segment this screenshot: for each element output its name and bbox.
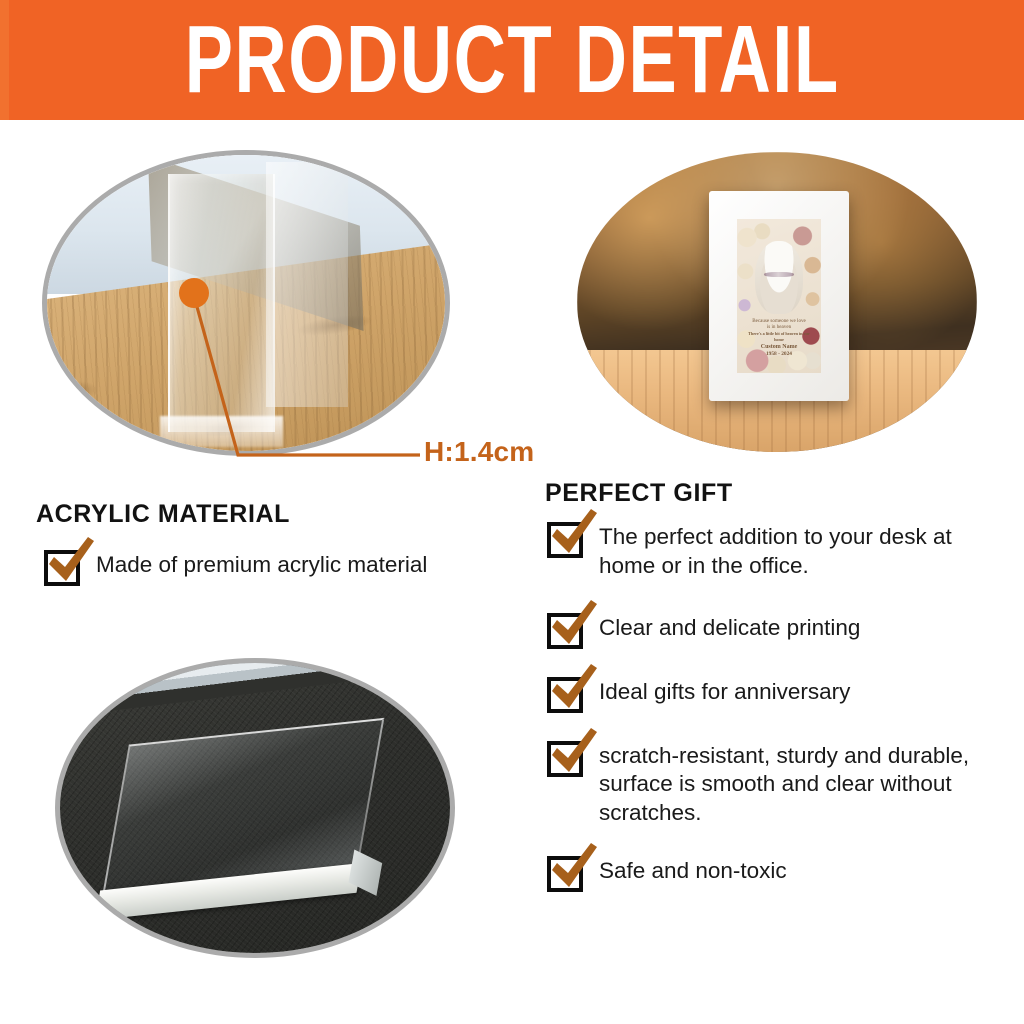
feature-item: Ideal gifts for anniversary [547,675,992,713]
feature-text: Clear and delicate printing [599,611,860,643]
product-photo-gift-scene: Because someone we love is in heaven The… [577,152,977,452]
feature-item: Clear and delicate printing [547,611,992,649]
feature-item: scratch-resistant, sturdy and durable, s… [547,739,992,828]
product-detail-infographic: PRODUCT DETAIL Because someone we l [0,0,1024,1024]
inscription-custom-name: Custom Name [746,343,812,351]
inscription-dates: 1958 - 2024 [746,351,812,358]
checkmark-icon [547,728,599,780]
acrylic-block-edge [168,174,274,431]
perfect-gift-feature-list: The perfect addition to your desk at hom… [547,520,992,914]
product-photo-thickness [42,150,450,456]
feature-item: Made of premium acrylic material [44,548,514,586]
header-banner: PRODUCT DETAIL [0,0,1024,120]
inscription-line-1: Because someone we love [746,318,812,325]
feature-text: Made of premium acrylic material [96,548,427,580]
checkmark-icon [547,843,599,895]
feature-item: Safe and non-toxic [547,854,992,892]
inscription-line-3: There's a little bit of heaven in our ho… [746,331,812,342]
checkmark-icon [44,537,96,589]
wood-grain-knot [45,378,100,407]
page-title: PRODUCT DETAIL [185,11,840,106]
checkbox-icon [547,677,583,713]
portrait-relief-image [755,241,802,315]
section-heading-acrylic-material: ACRYLIC MATERIAL [36,500,290,529]
memorial-photo-frame: Because someone we love is in heaven The… [709,191,849,401]
feature-text: Ideal gifts for anniversary [599,675,850,707]
checkmark-icon [547,600,599,652]
checkbox-icon [44,550,80,586]
frame-inscription: Because someone we love is in heaven The… [746,318,812,359]
feature-text: scratch-resistant, sturdy and durable, s… [599,739,992,828]
feature-text: The perfect addition to your desk at hom… [599,520,992,581]
checkbox-icon [547,856,583,892]
wood-table-scene [42,150,450,456]
checkmark-icon [547,509,599,561]
thickness-label: H:1.4cm [424,436,534,468]
inscription-line-2: is in heaven [746,324,812,331]
feature-item: The perfect addition to your desk at hom… [547,520,992,581]
frame-artwork: Because someone we love is in heaven The… [737,219,821,373]
section-heading-perfect-gift: PERFECT GIFT [545,479,733,508]
acrylic-block [102,717,384,892]
product-photo-block-on-slate [55,658,455,958]
checkbox-icon [547,741,583,777]
checkbox-icon [547,522,583,558]
checkmark-icon [547,664,599,716]
acrylic-base-highlight [160,416,282,447]
checkbox-icon [547,613,583,649]
feature-text: Safe and non-toxic [599,854,787,886]
acrylic-side-face [266,162,348,407]
